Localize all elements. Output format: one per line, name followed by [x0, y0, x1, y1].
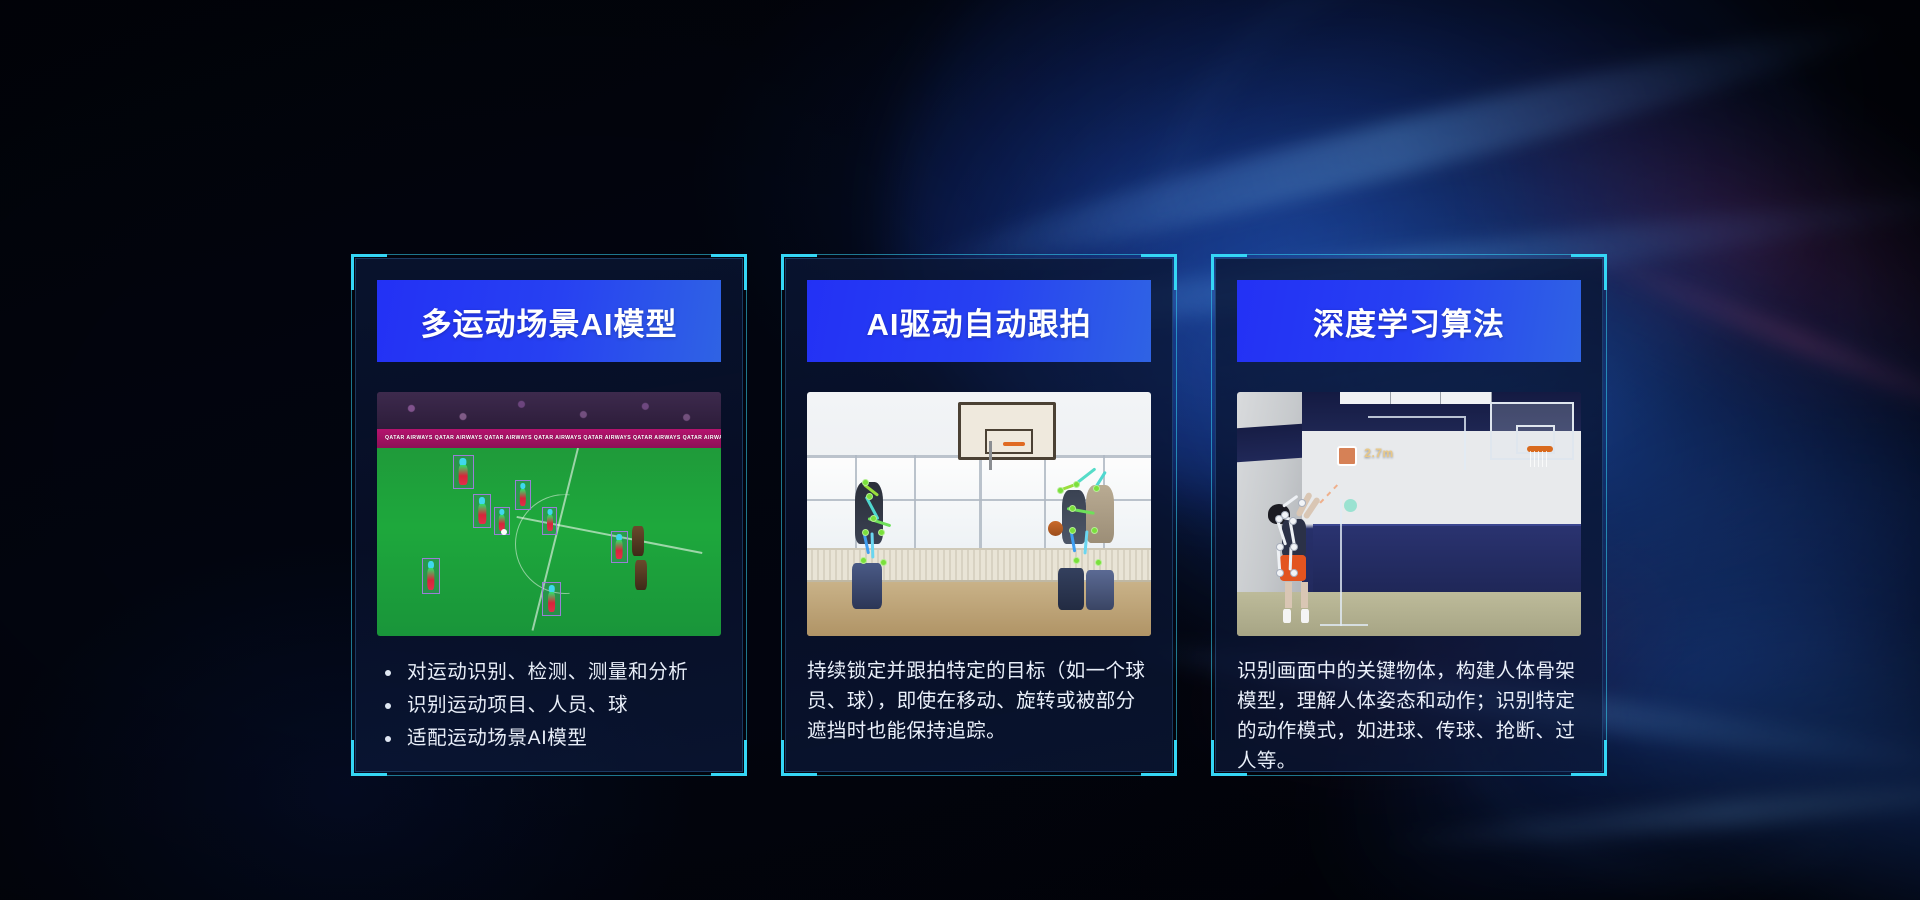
tracking-guide-vertical: [1464, 416, 1466, 470]
feature-card-ai-auto-tracking[interactable]: AI驱动自动跟拍: [785, 258, 1173, 772]
detection-box: [473, 494, 491, 528]
frame-edge-right: [746, 290, 747, 740]
card-description: 识别画面中的关键物体，构建人体骨架模型，理解人体姿态和动作；识别特定的动作模式，…: [1237, 656, 1583, 776]
frame-edge-left: [351, 290, 352, 740]
frame-edge-left: [1211, 290, 1212, 740]
player-shorts: [1086, 570, 1114, 610]
basketball-rim: [1003, 442, 1025, 446]
detection-box: [542, 582, 561, 616]
court-pillar-stripe: [1237, 424, 1302, 463]
pose-skeleton: [852, 473, 912, 573]
card-title: AI驱动自动跟拍: [867, 299, 1092, 344]
frame-edge-bottom: [387, 775, 711, 776]
card-thumbnail-basketball-gym: [807, 392, 1151, 636]
detection-box: [611, 531, 628, 563]
feature-card-multi-sport-ai-model[interactable]: 多运动场景AI模型 QATAR AIRWAYS QATAR AIRWAYS QA…: [355, 258, 743, 772]
player-shorts: [1058, 568, 1084, 610]
list-item: 适配运动场景AI模型: [377, 722, 723, 755]
advertising-board: QATAR AIRWAYS QATAR AIRWAYS QATAR AIRWAY…: [377, 429, 721, 449]
card-thumbnail-soccer: QATAR AIRWAYS QATAR AIRWAYS QATAR AIRWAY…: [377, 392, 721, 636]
opponent-player: [632, 526, 644, 556]
court-image: 2.7m: [1237, 392, 1581, 636]
stadium-crowd: [377, 392, 721, 433]
opponent-player: [635, 560, 647, 590]
ball-detection-box: [1337, 446, 1357, 466]
gym-image: [807, 392, 1151, 636]
distance-label: 2.7m: [1364, 446, 1393, 460]
window-mullion: [979, 455, 982, 548]
detection-box: [515, 480, 531, 510]
advertising-board-text: QATAR AIRWAYS QATAR AIRWAYS QATAR AIRWAY…: [377, 435, 721, 441]
frame-edge-right: [1176, 290, 1177, 740]
window-mullion: [1044, 455, 1046, 548]
court-wall-padding: [1313, 524, 1581, 592]
card-body: 对运动识别、检测、测量和分析 识别运动项目、人员、球 适配运动场景AI模型: [377, 656, 723, 755]
basketball-backboard: [958, 402, 1056, 460]
feature-card-row: 多运动场景AI模型 QATAR AIRWAYS QATAR AIRWAYS QA…: [355, 258, 1603, 772]
pose-skeleton: [1051, 473, 1131, 573]
frame-edge-top: [387, 254, 711, 255]
tracking-guide-vertical: [1340, 499, 1342, 626]
card-body: 持续锁定并跟拍特定的目标（如一个球员、球），即使在移动、旋转或被部分遮挡时也能保…: [807, 656, 1153, 746]
frame-edge-left: [781, 290, 782, 740]
list-item: 对运动识别、检测、测量和分析: [377, 656, 723, 689]
feature-bullet-list: 对运动识别、检测、测量和分析 识别运动项目、人员、球 适配运动场景AI模型: [377, 656, 723, 755]
card-header: 深度学习算法: [1237, 280, 1581, 362]
soccer-ball: [501, 529, 507, 535]
card-thumbnail-court: 2.7m: [1237, 392, 1581, 636]
frame-edge-top: [1247, 254, 1571, 255]
detection-box: [422, 558, 440, 594]
list-item: 识别运动项目、人员、球: [377, 689, 723, 722]
skeleton-overlay: [1268, 499, 1328, 619]
detection-box: [542, 507, 557, 535]
window-mullion: [914, 455, 916, 548]
tracking-guide-horizontal: [1368, 416, 1464, 418]
backboard-post: [989, 441, 992, 470]
court-scoreboard-strip: [1340, 392, 1491, 404]
card-header: AI驱动自动跟拍: [807, 280, 1151, 362]
card-title: 多运动场景AI模型: [421, 299, 678, 344]
frame-edge-top: [817, 254, 1141, 255]
card-header: 多运动场景AI模型: [377, 280, 721, 362]
card-body: 识别画面中的关键物体，构建人体骨架模型，理解人体姿态和动作；识别特定的动作模式，…: [1237, 656, 1583, 776]
detection-box: [453, 455, 474, 489]
frame-edge-bottom: [817, 775, 1141, 776]
frame-edge-bottom: [1247, 775, 1571, 776]
feature-card-deep-learning-algorithm[interactable]: 深度学习算法 2: [1215, 258, 1603, 772]
card-description: 持续锁定并跟拍特定的目标（如一个球员、球），即使在移动、旋转或被部分遮挡时也能保…: [807, 656, 1153, 746]
frame-edge-right: [1606, 290, 1607, 740]
tracking-guide-floor: [1320, 624, 1368, 626]
target-marker: [1344, 499, 1357, 512]
court-net: [1530, 451, 1550, 467]
soccer-pitch-image: QATAR AIRWAYS QATAR AIRWAYS QATAR AIRWAY…: [377, 392, 721, 636]
card-title: 深度学习算法: [1313, 299, 1505, 344]
